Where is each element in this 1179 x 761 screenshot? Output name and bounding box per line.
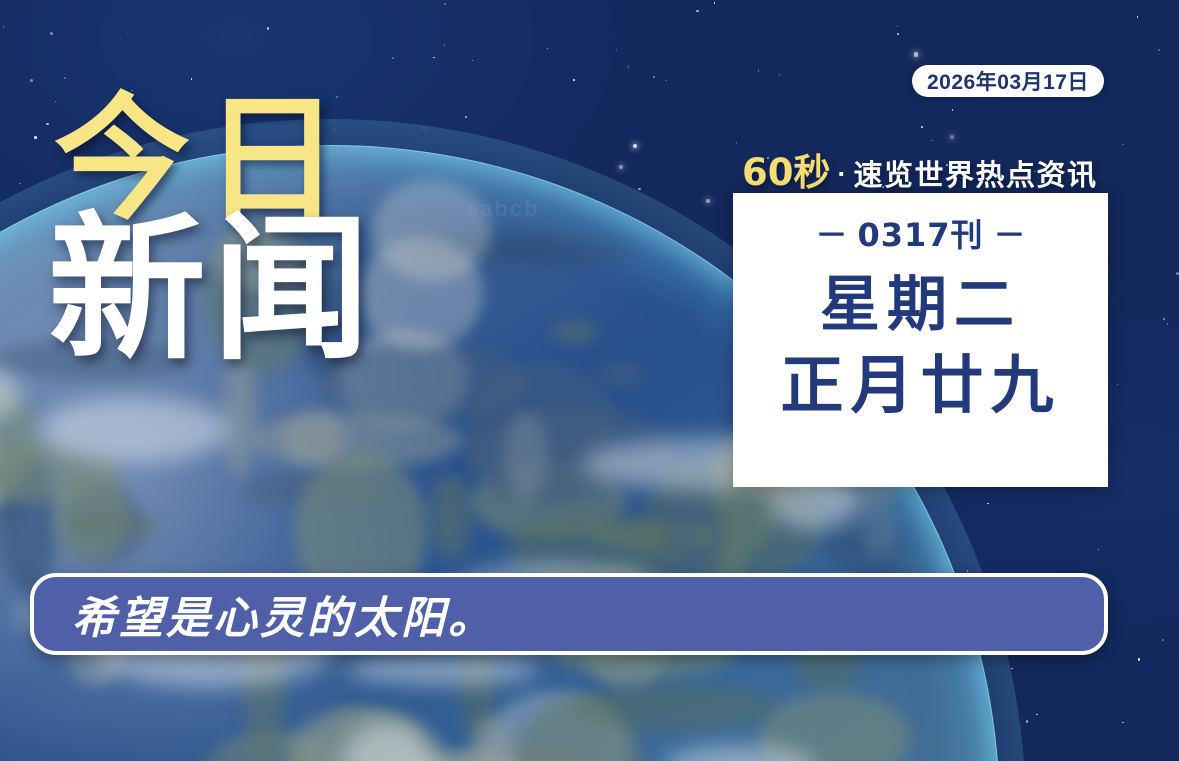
info-card: －0317刊－ 星期二 正月廿九 xyxy=(733,193,1108,487)
poster-canvas: sabcb 今日 新闻 2026年03月17日 60秒 · 速览世界热点资讯 －… xyxy=(0,0,1179,761)
issue-number: 0317刊 xyxy=(857,216,983,254)
watermark-text: sabcb xyxy=(466,196,540,222)
headline-line-2: 新闻 xyxy=(48,210,376,371)
lunar-date-label: 正月廿九 xyxy=(781,353,1061,419)
quote-text: 希望是心灵的太阳。 xyxy=(72,582,495,646)
tagline-description: 速览世界热点资讯 xyxy=(854,152,1098,194)
issue-line: －0317刊－ xyxy=(805,210,1035,256)
headline-block: 今日 新闻 xyxy=(54,92,376,371)
issue-dash-right: － xyxy=(994,216,1026,254)
issue-dash-left: － xyxy=(815,216,847,254)
tagline-duration: 60秒 xyxy=(742,142,831,196)
tagline-separator: · xyxy=(838,159,847,190)
weekday-label: 星期二 xyxy=(820,274,1021,337)
quote-banner: 希望是心灵的太阳。 xyxy=(30,573,1108,655)
tagline: 60秒 · 速览世界热点资讯 xyxy=(742,142,1098,196)
date-badge: 2026年03月17日 xyxy=(912,65,1104,97)
